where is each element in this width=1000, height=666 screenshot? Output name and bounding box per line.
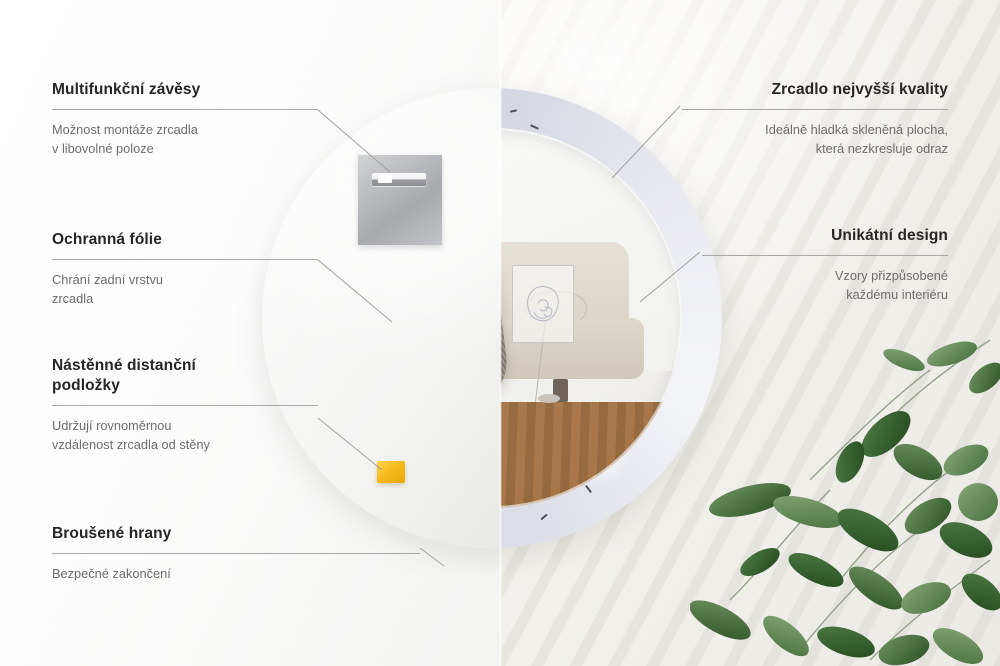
hanger-slot-icon <box>372 173 426 186</box>
callout-nastenne-distancni-podlozky: Nástěnné distanční podložky Udržují rovn… <box>52 356 318 454</box>
callout-rule <box>52 259 318 260</box>
callout-title: Multifunkční závěsy <box>52 80 318 100</box>
line-art-poster-icon <box>512 265 574 343</box>
callout-zrcadlo-nejvyssi-kvality: Zrcadlo nejvyšší kvality Ideálně hladká … <box>682 80 948 158</box>
callout-ochranna-folie: Ochranná fólie Chrání zadní vrstvu zrcad… <box>52 230 318 308</box>
callout-body: Bezpečné zakončení <box>52 564 420 583</box>
callout-rule <box>52 405 318 406</box>
callout-title: Broušené hrany <box>52 524 420 544</box>
callout-rule <box>52 109 318 110</box>
callout-body: Ideálně hladká skleněná plocha, která ne… <box>682 120 948 158</box>
callout-rule <box>702 255 948 256</box>
callout-title: Zrcadlo nejvyšší kvality <box>682 80 948 100</box>
callout-title: Ochranná fólie <box>52 230 318 250</box>
infographic-canvas: Multifunkční závěsy Možnost montáže zrca… <box>0 0 1000 666</box>
callout-rule <box>682 109 948 110</box>
foliage-decoration <box>690 330 1000 666</box>
callout-body: Vzory přizpůsobené každému interiéru <box>702 266 948 304</box>
callout-unikatni-design: Unikátní design Vzory přizpůsobené každé… <box>702 226 948 304</box>
callout-brousene-hrany: Broušené hrany Bezpečné zakončení <box>52 524 420 583</box>
yellow-spacer-block-icon <box>377 461 405 483</box>
callout-title: Unikátní design <box>702 226 948 246</box>
callout-body: Možnost montáže zrcadla v libovolné polo… <box>52 120 318 158</box>
callout-body: Chrání zadní vrstvu zrcadla <box>52 270 318 308</box>
wall-hanger-plate-icon <box>358 155 442 245</box>
mirror-product <box>262 88 722 548</box>
callout-rule <box>52 553 420 554</box>
panel-split-divider <box>499 0 502 666</box>
callout-body: Udržují rovnoměrnou vzdálenost zrcadla o… <box>52 416 318 454</box>
callout-multifunkcni-zavesy: Multifunkční závěsy Možnost montáže zrca… <box>52 80 318 158</box>
callout-title: Nástěnné distanční podložky <box>52 356 318 396</box>
